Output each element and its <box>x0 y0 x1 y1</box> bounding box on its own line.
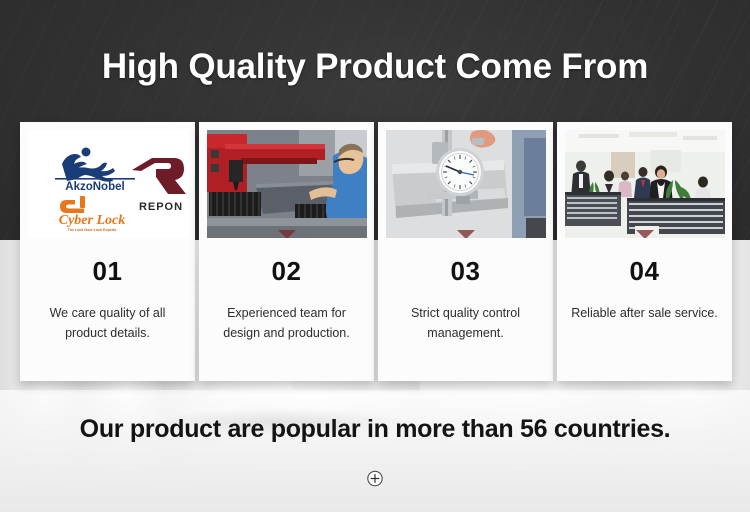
feature-card-03[interactable]: 03 Strict quality control management. <box>378 122 553 381</box>
svg-text:The Lock Door Lock Experts: The Lock Door Lock Experts <box>67 228 116 232</box>
card-description: Reliable after sale service. <box>569 303 721 323</box>
feature-card-01[interactable]: AkzoNobel Cyber Lock The Lock Door Lock … <box>20 122 195 381</box>
svg-text:Cyber Lock: Cyber Lock <box>58 213 124 228</box>
card-pointer-triangle <box>636 230 654 238</box>
card-number: 03 <box>451 256 481 287</box>
card-description: Strict quality control management. <box>390 303 542 343</box>
card-image-03[interactable] <box>386 130 546 238</box>
card-description: Experienced team for design and producti… <box>211 303 363 343</box>
partner-logos-graphic: AkzoNobel Cyber Lock The Lock Door Lock … <box>28 130 188 238</box>
card-image-02[interactable] <box>207 130 367 238</box>
plus-circle-icon[interactable] <box>367 470 384 487</box>
card-description: We care quality of all product details. <box>32 303 184 343</box>
card-number: 04 <box>630 256 660 287</box>
card-pointer-triangle <box>457 230 475 238</box>
card-number: 01 <box>93 256 123 287</box>
office-team-photo <box>565 130 725 238</box>
feature-card-list: AkzoNobel Cyber Lock The Lock Door Lock … <box>20 122 732 381</box>
feature-card-02[interactable]: 02 Experienced team for design and produ… <box>199 122 374 381</box>
page-title: High Quality Product Come From <box>0 44 750 90</box>
footer-headline: Our product are popular in more than 56 … <box>0 415 750 444</box>
caliper-inspection-photo <box>386 130 546 238</box>
svg-text:AkzoNobel: AkzoNobel <box>65 181 124 193</box>
svg-text:REPON: REPON <box>138 201 182 213</box>
page-root: High Quality Product Come From AkzoNobel <box>0 0 750 512</box>
cnc-machine-photo <box>207 130 367 238</box>
card-image-04[interactable] <box>565 130 725 238</box>
card-image-01[interactable]: AkzoNobel Cyber Lock The Lock Door Lock … <box>28 130 188 238</box>
card-number: 02 <box>272 256 302 287</box>
card-pointer-triangle <box>278 230 296 238</box>
feature-card-04[interactable]: 04 Reliable after sale service. <box>557 122 732 381</box>
